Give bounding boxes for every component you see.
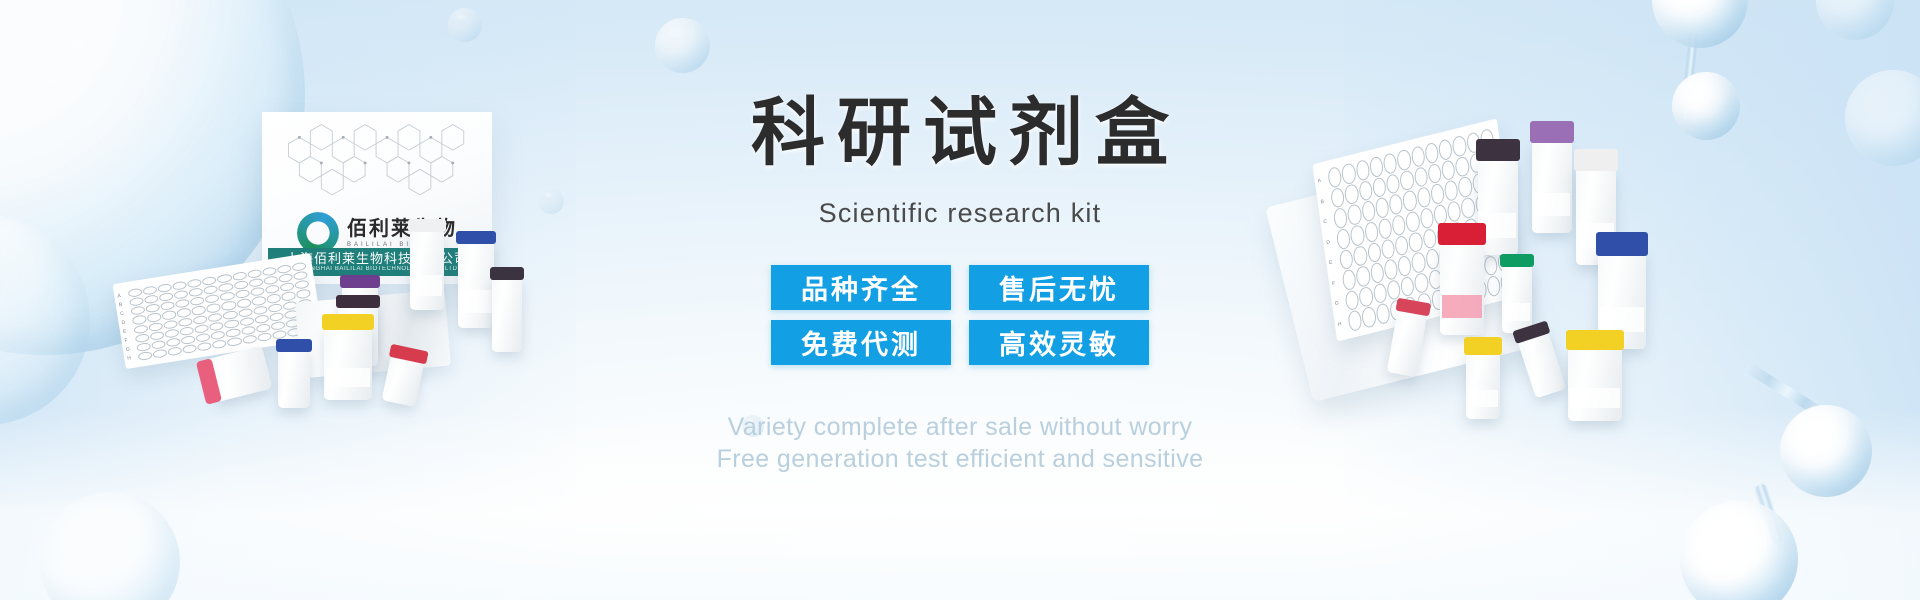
vial-label: [1468, 390, 1498, 407]
microplate-well: [282, 300, 297, 310]
row-label: G: [125, 346, 130, 353]
microplate-well: [159, 292, 174, 302]
reagent-vial: [382, 355, 425, 407]
molecule-sphere-top-far-b: [1845, 70, 1920, 166]
molecule-bond-top-right: [1678, 32, 1699, 123]
kit-brand-cn: 佰利莱生物: [347, 219, 457, 239]
microplate-well: [1427, 162, 1443, 185]
microplate-well: [217, 274, 232, 284]
microplate-well: [145, 303, 160, 313]
hexagon-pattern-icon: [272, 120, 482, 204]
microplate-well: [1499, 272, 1515, 295]
microplate-well: [1427, 268, 1443, 291]
microplate-well: [1388, 193, 1404, 216]
water-droplet-bottom-left: [40, 492, 180, 600]
reagent-vial: [324, 328, 372, 400]
microplate-well: [162, 310, 177, 320]
microplate-well: [174, 290, 189, 300]
vial-cap: [322, 314, 374, 330]
reagent-vial: [1518, 332, 1567, 399]
microplate-well: [1397, 255, 1413, 278]
kit-brand-en: BAILILAI BIOLOGY: [347, 242, 447, 248]
microplate-well: [1400, 275, 1416, 298]
row-label: D: [121, 319, 126, 326]
background-tint-right: [1344, 0, 1920, 600]
microplate-well: [138, 351, 153, 361]
reagent-vial: [1478, 159, 1518, 255]
row-label: E: [123, 328, 128, 335]
microplate-well: [1396, 148, 1412, 171]
microplate-well: [1385, 172, 1401, 195]
molecule-sphere-bottom-right-b: [1680, 500, 1798, 600]
microplate-well: [277, 264, 292, 274]
reagent-vial: [206, 346, 273, 403]
hero-banner: 佰利莱生物 BAILILAI BIOLOGY 上海佰利莱生物科技有限公司 SHA…: [0, 0, 1920, 600]
microplate-well: [211, 330, 226, 340]
microplate-well: [287, 327, 302, 337]
microplate-well: [293, 271, 308, 281]
microplate-well: [128, 288, 143, 298]
microplate-well: [181, 335, 196, 345]
microplate-well: [150, 330, 165, 340]
microplate-well: [1405, 210, 1421, 233]
vial-cap: [1395, 298, 1431, 317]
reagent-vial: [338, 306, 378, 366]
vial-cap: [1500, 254, 1534, 267]
microplate-well: [1474, 193, 1490, 216]
molecule-bond-bottom-right-a: [1744, 362, 1826, 419]
banner-copy: 科研试剂盒 Scientific research kit 品种齐全 售后无忧 …: [540, 96, 1380, 475]
microplate-well: [238, 307, 253, 317]
vial-label: [1570, 388, 1620, 407]
microplate-well: [160, 301, 175, 311]
microplate-well: [1419, 207, 1435, 230]
microplate-well: [254, 314, 269, 324]
microplate-well: [300, 316, 315, 326]
feature-badge-aftersale[interactable]: 售后无忧: [969, 265, 1149, 310]
tagline-line-2: Free generation test efficient and sensi…: [540, 443, 1380, 475]
molecule-sphere-bottom-right-a: [1780, 405, 1872, 497]
microplate-well: [248, 278, 263, 288]
microplate-well: [1469, 258, 1485, 281]
vial-label: [1578, 223, 1614, 248]
microplate-well: [175, 299, 190, 309]
microplate-well: [1454, 155, 1470, 178]
microplate-well: [1496, 251, 1512, 274]
kit-company-en: SHANGHAI BAILILAI BIOTECHNOLOGY CO., LTD: [296, 266, 457, 273]
molecule-sphere-top-far-a: [1816, 0, 1894, 40]
microplate-well: [194, 323, 209, 333]
microplate-left: A B C D E F G H: [113, 253, 324, 369]
microplate-well: [1399, 169, 1415, 192]
microplate-well: [182, 344, 197, 354]
microplate-well: [1444, 285, 1460, 308]
microplate-well: [294, 280, 309, 290]
row-label: B: [118, 301, 123, 308]
microplate-well: [1389, 299, 1405, 322]
row-label: H: [127, 355, 132, 362]
vial-cap: [336, 295, 380, 308]
molecule-sphere-top-right-a: [1652, 0, 1748, 48]
microplate-well: [301, 325, 316, 335]
microplate-well: [299, 307, 314, 317]
microplate-well: [272, 330, 287, 340]
microplate-well: [132, 315, 147, 325]
microplate-well: [279, 282, 294, 292]
microplate-well: [1443, 179, 1459, 202]
water-droplet-small-mid: [655, 18, 710, 73]
microplate-well: [1416, 292, 1432, 315]
kit-carton: 佰利莱生物 BAILILAI BIOLOGY 上海佰利莱生物科技有限公司 SHA…: [262, 112, 492, 284]
microplate-well: [239, 316, 254, 326]
feature-badge-group: 品种齐全 售后无忧 免费代测 高效灵敏: [771, 265, 1149, 365]
product-cluster-left: 佰利莱生物 BAILILAI BIOLOGY 上海佰利莱生物科技有限公司 SHA…: [110, 100, 560, 400]
microplate-well: [151, 339, 166, 349]
vial-cap: [276, 339, 312, 352]
microplate-well: [278, 273, 293, 283]
microplate-well: [1465, 131, 1481, 154]
microplate-well: [135, 333, 150, 343]
microplate-well: [1386, 279, 1402, 302]
microplate-well: [266, 293, 281, 303]
microplate-well: [252, 305, 267, 315]
microplate-well: [1424, 248, 1440, 271]
microplate-well: [257, 332, 272, 342]
microplate-well: [220, 292, 235, 302]
microplate-well: [1435, 224, 1451, 247]
banner-subtitle: Scientific research kit: [540, 200, 1380, 227]
microplate-well: [1382, 152, 1398, 175]
molecule-sphere-top-right-b: [1672, 72, 1740, 140]
microplate-well: [148, 321, 163, 331]
microplate-well: [265, 284, 280, 294]
microplate-well: [202, 276, 217, 286]
vial-cap: [1596, 232, 1648, 256]
microplate-well: [157, 283, 172, 293]
microplate-well: [1416, 186, 1432, 209]
microplate-well: [1403, 296, 1419, 319]
water-droplet-small-upper: [448, 8, 482, 42]
vial-cap: [196, 358, 222, 405]
microplate-well: [270, 321, 285, 331]
microplate-well: [152, 348, 167, 358]
background-tint-left: [0, 0, 576, 600]
microplate-well: [1472, 278, 1488, 301]
microplate-well: [218, 283, 233, 293]
microplate-well: [1438, 138, 1454, 161]
row-label: F: [124, 337, 129, 344]
microplate-well: [1471, 172, 1487, 195]
microplate-well: [267, 302, 282, 312]
microplate-well: [1482, 148, 1498, 171]
microplate-well: [1494, 230, 1510, 253]
microplate-well: [147, 312, 162, 322]
microplate-well: [262, 266, 277, 276]
microplate-well: [1383, 258, 1399, 281]
microplate-well: [285, 318, 300, 328]
vial-cap: [1574, 149, 1618, 171]
reagent-vial: [1466, 353, 1500, 419]
reagent-vial: [492, 278, 522, 352]
reagent-vial: [342, 286, 378, 352]
microplate-well: [1455, 261, 1471, 284]
microplate-well: [1422, 227, 1438, 250]
microplate-well: [130, 306, 145, 316]
vial-label: [1504, 303, 1530, 321]
microplate-well: [167, 346, 182, 356]
microplate-well: [1463, 217, 1479, 240]
microplate-well: [247, 269, 262, 279]
microplate-well: [1411, 251, 1427, 274]
microplate-well: [296, 289, 311, 299]
microplate-well: [1485, 169, 1501, 192]
feature-badge-variety[interactable]: 品种齐全: [771, 265, 951, 310]
vial-cap: [408, 219, 446, 232]
microplate-well: [232, 271, 247, 281]
microplate-well: [1457, 176, 1473, 199]
microplate-well: [206, 303, 221, 313]
microplate-well: [1430, 183, 1446, 206]
vial-cap: [1464, 337, 1502, 355]
microplate-well: [197, 341, 212, 351]
microplate-well: [190, 296, 205, 306]
microplate-well: [208, 312, 223, 322]
microplate-well: [189, 287, 204, 297]
microplate-well: [187, 278, 202, 288]
microplate-well: [178, 317, 193, 327]
microplate-well: [1394, 234, 1410, 257]
banner-tagline: Variety complete after sale without worr…: [540, 411, 1380, 475]
microplate-well: [163, 319, 178, 329]
microplate-well: [172, 281, 187, 291]
microplate-well: [1408, 231, 1424, 254]
microplate-well: [1452, 241, 1468, 264]
microplate-well: [1491, 210, 1507, 233]
vial-label: [412, 275, 442, 296]
tagline-line-1: Variety complete after sale without worr…: [540, 411, 1380, 443]
microplate-well: [1424, 142, 1440, 165]
microplate-well: [1391, 214, 1407, 237]
microplate-well: [196, 332, 211, 342]
reagent-vial: [1440, 243, 1484, 335]
kit-company-cn: 上海佰利莱生物科技有限公司: [286, 252, 468, 266]
microplate-well: [133, 324, 148, 334]
microplate-well: [235, 289, 250, 299]
vial-label: [1442, 295, 1482, 319]
vial-cap: [456, 231, 496, 244]
microplate-well: [291, 262, 306, 272]
microplate-well: [1483, 254, 1499, 277]
microplate-well: [1480, 234, 1496, 257]
microplate-well: [227, 337, 242, 347]
microplate-well: [129, 297, 144, 307]
vial-cap: [490, 267, 524, 280]
reagent-vial: [1568, 347, 1622, 421]
microplate-well: [236, 298, 251, 308]
microplate-well: [177, 308, 192, 318]
vial-label: [1480, 213, 1516, 238]
microplate-well: [255, 323, 270, 333]
microplate-well: [1441, 265, 1457, 288]
microplate-well: [193, 314, 208, 324]
vial-label: [344, 323, 376, 340]
microplate-well: [212, 339, 227, 349]
kit-brand-lockup: 佰利莱生物 BAILILAI BIOLOGY: [262, 212, 492, 254]
vial-cap: [1438, 223, 1486, 245]
microplate-well: [242, 334, 257, 344]
microplate-well: [142, 285, 157, 295]
microplate-well: [284, 309, 299, 319]
microplate-well: [166, 337, 181, 347]
microplate-well: [209, 321, 224, 331]
vial-label: [460, 290, 492, 312]
microplate-well: [203, 285, 218, 295]
reagent-vial: [1387, 309, 1428, 377]
microplate-well: [233, 280, 248, 290]
microplate-well: [1479, 128, 1495, 151]
microplate-well: [1410, 145, 1426, 168]
microplate-well: [165, 328, 180, 338]
microplate-well: [205, 294, 220, 304]
microplate-well: [269, 312, 284, 322]
vial-label: [1600, 307, 1644, 332]
microplate-well: [226, 328, 241, 338]
feature-badge-sensitive[interactable]: 高效灵敏: [969, 320, 1149, 365]
microplate-well: [1413, 166, 1429, 189]
microplate-well: [297, 298, 312, 308]
row-label: C: [120, 310, 125, 317]
vial-label: [1534, 193, 1570, 217]
microplate-well: [1380, 238, 1396, 261]
vial-cap: [389, 344, 429, 365]
microplate-well: [1460, 196, 1476, 219]
microplate-well: [1402, 190, 1418, 213]
microplate-well: [1438, 244, 1454, 267]
reagent-vial: [278, 350, 310, 408]
microplate-well: [221, 301, 236, 311]
microplate-well: [1446, 200, 1462, 223]
reagent-vial: [1502, 265, 1532, 333]
dna-helix-icon: [297, 212, 339, 254]
microplate-well: [1488, 189, 1504, 212]
water-droplet-mid-left: [0, 215, 90, 425]
microplate-well: [144, 294, 159, 304]
microplate-well: [1433, 203, 1449, 226]
microplate-wells-left: [128, 262, 317, 361]
microplate-well: [1477, 213, 1493, 236]
microplate-well: [1486, 275, 1502, 298]
microplate-well: [251, 296, 266, 306]
vial-cap: [340, 275, 380, 288]
feature-badge-freetest[interactable]: 免费代测: [771, 320, 951, 365]
kit-company-band: 上海佰利莱生物科技有限公司 SHANGHAI BAILILAI BIOTECHN…: [268, 248, 486, 276]
reagent-vial: [1598, 253, 1646, 349]
foil-pouch-left: [295, 290, 451, 379]
microplate-well: [136, 342, 151, 352]
microplate-well: [1414, 272, 1430, 295]
microplate-well: [281, 291, 296, 301]
vial-cap: [1566, 330, 1624, 350]
microplate-well: [179, 326, 194, 336]
microplate-well: [223, 310, 238, 320]
vial-cap: [1512, 320, 1550, 343]
reagent-vial: [458, 242, 494, 328]
microplate-well: [224, 319, 239, 329]
reagent-vial: [1532, 141, 1572, 233]
reagent-vial: [1576, 169, 1616, 265]
microplate-row-labels-left: A B C D E F G H: [117, 291, 132, 363]
vial-cap: [1476, 139, 1520, 161]
microplate-well: [1449, 220, 1465, 243]
microplate-well: [191, 305, 206, 315]
reagent-vial: [410, 230, 444, 310]
microplate-well: [250, 287, 265, 297]
row-label: A: [117, 292, 122, 299]
microplate-well: [1430, 289, 1446, 312]
banner-title: 科研试剂盒: [552, 96, 1380, 170]
vial-label: [326, 368, 370, 387]
molecule-bond-bottom-right-b: [1753, 482, 1785, 545]
microplate-well: [240, 325, 255, 335]
microplate-well: [1458, 282, 1474, 305]
vial-cap: [1530, 121, 1574, 143]
microplate-well: [1468, 152, 1484, 175]
microplate-well: [1466, 237, 1482, 260]
microplate-well: [1441, 159, 1457, 182]
microplate-well: [1452, 135, 1468, 158]
microplate-well: [263, 275, 278, 285]
water-droplet-top-left: [0, 0, 305, 355]
